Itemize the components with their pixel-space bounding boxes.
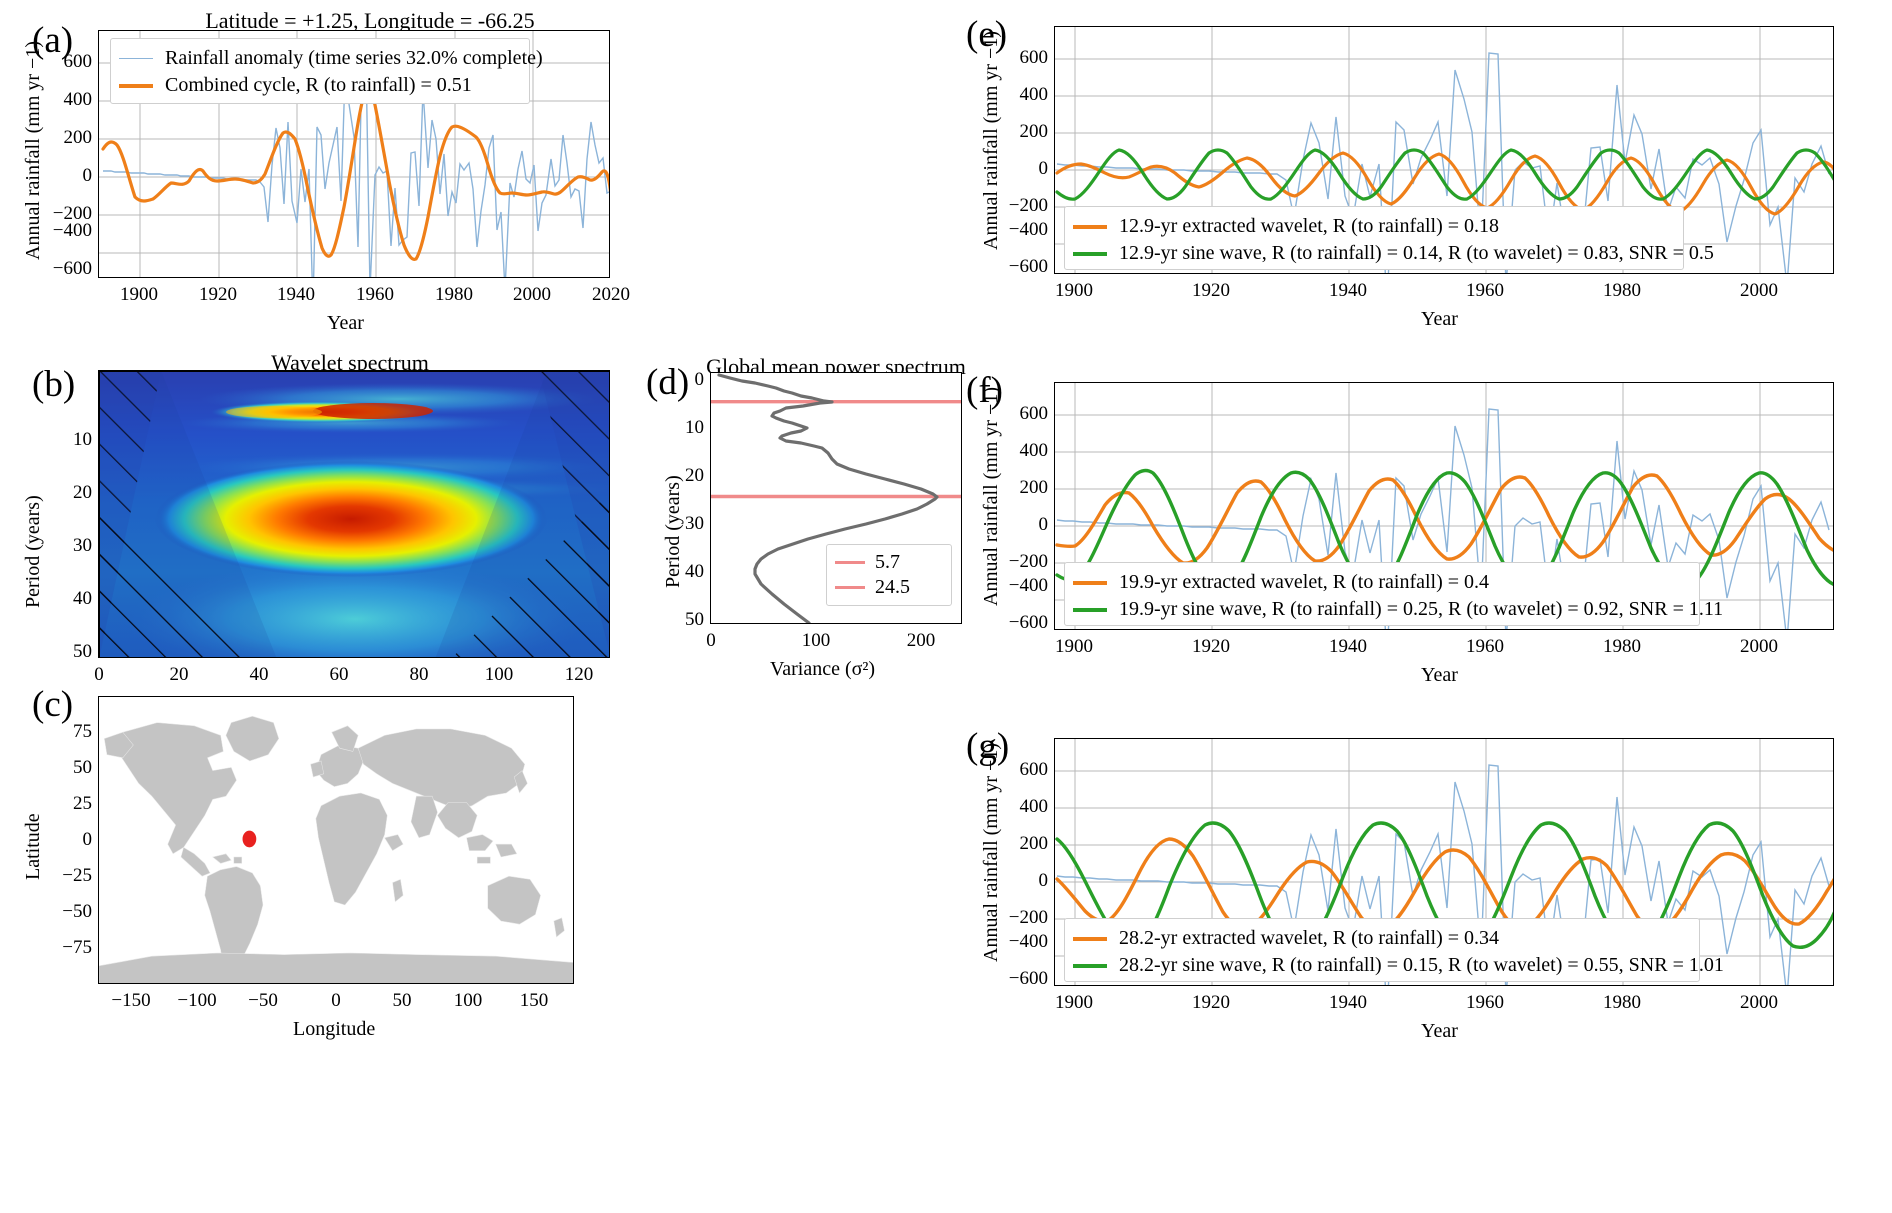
panel-g-xtick: 1960 <box>1466 992 1504 1014</box>
panel-b-xtick: 120 <box>565 664 594 686</box>
legend-label: 28.2-yr extracted wavelet, R (to rainfal… <box>1119 927 1499 950</box>
panel-a-ytick: 600 <box>46 51 92 73</box>
panel-f-xtick: 1920 <box>1192 636 1230 658</box>
panel-f-xtick: 1940 <box>1329 636 1367 658</box>
panel-e-xtick: 1940 <box>1329 280 1367 302</box>
panel-a-xtick: 2020 <box>592 284 630 306</box>
legend-swatch-extracted-wavelet <box>1073 937 1107 941</box>
panel-e-xtick: 1980 <box>1603 280 1641 302</box>
panel-f-xtick: 1980 <box>1603 636 1641 658</box>
legend-swatch-sine-wave <box>1073 252 1107 256</box>
legend-label: 19.9-yr sine wave, R (to rainfall) = 0.2… <box>1119 598 1723 621</box>
panel-f-xtick: 1960 <box>1466 636 1504 658</box>
panel-a-ytick: 200 <box>46 127 92 149</box>
panel-e-ytick: −400 <box>996 219 1048 241</box>
panel-e-xtick: 1960 <box>1466 280 1504 302</box>
panel-e-ytick: −200 <box>996 195 1048 217</box>
panel-a-ytick: 400 <box>46 89 92 111</box>
panel-e-xtick: 1920 <box>1192 280 1230 302</box>
panel-b-xtick: 80 <box>410 664 429 686</box>
panel-c-xtick: 0 <box>331 990 341 1012</box>
panel-b-xtick: 100 <box>485 664 514 686</box>
panel-d-ytick: 0 <box>682 369 704 391</box>
panel-f-ytick: 400 <box>1002 440 1048 462</box>
panel-g-legend: 28.2-yr extracted wavelet, R (to rainfal… <box>1064 918 1700 982</box>
panel-a-legend: Rainfall anomaly (time series 32.0% comp… <box>110 38 530 104</box>
panel-b-label: (b) <box>32 366 75 403</box>
panel-c-xtick: 50 <box>393 990 412 1012</box>
legend-swatch-sine-wave <box>1073 964 1107 968</box>
panel-c-ytick: −75 <box>30 937 92 959</box>
panel-c-xtick: −150 <box>111 990 150 1012</box>
panel-c-ylabel: Latitude <box>22 813 45 880</box>
legend-item[interactable]: 24.5 <box>835 575 943 600</box>
legend-item[interactable]: 19.9-yr sine wave, R (to rainfall) = 0.2… <box>1073 596 1689 623</box>
legend-swatch-extracted-wavelet <box>1073 225 1107 229</box>
legend-label: Rainfall anomaly (time series 32.0% comp… <box>165 47 543 70</box>
legend-label: Combined cycle, R (to rainfall) = 0.51 <box>165 74 472 97</box>
legend-item[interactable]: 12.9-yr extracted wavelet, R (to rainfal… <box>1073 213 1673 240</box>
legend-swatch-sine-wave <box>1073 608 1107 612</box>
panel-f-ytick: −400 <box>996 575 1048 597</box>
panel-a-ytick: 0 <box>46 165 92 187</box>
legend-item[interactable]: 12.9-yr sine wave, R (to rainfall) = 0.1… <box>1073 240 1673 267</box>
panel-e-ytick: −600 <box>996 256 1048 278</box>
panel-b-ytick: 30 <box>46 535 92 557</box>
panel-g-ytick: −200 <box>996 907 1048 929</box>
legend-label: 12.9-yr extracted wavelet, R (to rainfal… <box>1119 215 1499 238</box>
panel-d-ylabel: Period (years) <box>662 475 685 588</box>
panel-b-plot <box>98 370 610 658</box>
panel-a-xtick: 1920 <box>199 284 237 306</box>
figure-root: (a) Latitude = +1.25, Longitude = -66.25… <box>0 0 1892 1213</box>
panel-e-legend: 12.9-yr extracted wavelet, R (to rainfal… <box>1064 206 1684 270</box>
panel-b-ytick: 50 <box>46 641 92 663</box>
landmasses <box>99 716 574 984</box>
panel-b-ylabel: Period (years) <box>22 495 45 608</box>
panel-e-xtick: 1900 <box>1055 280 1093 302</box>
panel-d-xtick: 200 <box>907 630 936 652</box>
legend-label: 12.9-yr sine wave, R (to rainfall) = 0.1… <box>1119 242 1714 265</box>
panel-e-xtick: 2000 <box>1740 280 1778 302</box>
panel-a-xtick: 1960 <box>356 284 394 306</box>
legend-swatch-rainfall <box>119 58 153 59</box>
panel-f-ytick: 0 <box>1002 514 1048 536</box>
panel-g-ytick: 200 <box>1002 833 1048 855</box>
panel-a-xtick: 1980 <box>435 284 473 306</box>
panel-f-legend: 19.9-yr extracted wavelet, R (to rainfal… <box>1064 562 1700 626</box>
site-marker[interactable] <box>243 831 257 848</box>
panel-g-ytick: 400 <box>1002 796 1048 818</box>
panel-c-world-map-svg <box>99 697 574 984</box>
panel-c-xtick: 150 <box>520 990 549 1012</box>
legend-item[interactable]: Combined cycle, R (to rainfall) = 0.51 <box>119 72 519 99</box>
panel-g-xtick: 1920 <box>1192 992 1230 1014</box>
panel-g-xtick: 2000 <box>1740 992 1778 1014</box>
legend-item[interactable]: 28.2-yr extracted wavelet, R (to rainfal… <box>1073 925 1689 952</box>
panel-f-ytick: 600 <box>1002 403 1048 425</box>
panel-b-xtick: 40 <box>250 664 269 686</box>
panel-b-xtick: 0 <box>94 664 104 686</box>
panel-g-ytick: 600 <box>1002 759 1048 781</box>
panel-e-ytick: 600 <box>1002 47 1048 69</box>
legend-item[interactable]: 5.7 <box>835 550 943 575</box>
panel-c-label: (c) <box>32 686 73 723</box>
panel-e-ytick: 200 <box>1002 121 1048 143</box>
legend-label: 28.2-yr sine wave, R (to rainfall) = 0.1… <box>1119 954 1724 977</box>
panel-g-xlabel: Year <box>1421 1020 1458 1043</box>
panel-f-ytick: −200 <box>996 551 1048 573</box>
panel-a-xlabel: Year <box>327 312 364 335</box>
panel-c-xtick: −50 <box>248 990 278 1012</box>
panel-c-xlabel: Longitude <box>293 1018 375 1041</box>
panel-c-map <box>98 696 574 984</box>
panel-g-extracted-wavelet <box>1057 839 1834 930</box>
legend-label: 19.9-yr extracted wavelet, R (to rainfal… <box>1119 571 1489 594</box>
panel-c-xtick: −100 <box>177 990 216 1012</box>
panel-g-ytick: −400 <box>996 931 1048 953</box>
panel-c-xtick: 100 <box>454 990 483 1012</box>
legend-item[interactable]: 28.2-yr sine wave, R (to rainfall) = 0.1… <box>1073 952 1689 979</box>
panel-b-ytick: 10 <box>46 429 92 451</box>
panel-f-xtick: 2000 <box>1740 636 1778 658</box>
panel-d-ytick: 50 <box>672 609 704 631</box>
panel-d-ytick: 10 <box>672 417 704 439</box>
panel-a-xtick: 1940 <box>277 284 315 306</box>
panel-f-xlabel: Year <box>1421 664 1458 687</box>
legend-swatch-period-5-7 <box>835 561 865 564</box>
panel-a-xtick: 1900 <box>120 284 158 306</box>
panel-c-ytick: 50 <box>36 757 92 779</box>
panel-f-ytick: −600 <box>996 612 1048 634</box>
panel-a-ytick: −600 <box>40 258 92 280</box>
panel-g-xtick: 1900 <box>1055 992 1093 1014</box>
panel-e-ytick: 400 <box>1002 84 1048 106</box>
panel-d-xlabel: Variance (σ²) <box>770 658 875 681</box>
panel-b-xtick: 60 <box>330 664 349 686</box>
panel-g-xtick: 1940 <box>1329 992 1367 1014</box>
panel-c-ytick: 75 <box>36 721 92 743</box>
panel-d-xtick: 100 <box>802 630 831 652</box>
legend-label: 24.5 <box>875 576 910 599</box>
panel-f-xtick: 1900 <box>1055 636 1093 658</box>
legend-swatch-extracted-wavelet <box>1073 581 1107 585</box>
panel-b-ytick: 40 <box>46 588 92 610</box>
panel-a-xtick: 2000 <box>513 284 551 306</box>
legend-swatch-period-24-5 <box>835 586 865 589</box>
panel-b-ytick: 20 <box>46 482 92 504</box>
panel-d-legend: 5.7 24.5 <box>826 544 952 606</box>
panel-g-xtick: 1980 <box>1603 992 1641 1014</box>
legend-item[interactable]: 19.9-yr extracted wavelet, R (to rainfal… <box>1073 569 1689 596</box>
panel-e-ytick: 0 <box>1002 158 1048 180</box>
panel-f-ytick: 200 <box>1002 477 1048 499</box>
panel-g-ylabel: Annual rainfall (mm yr −1) <box>980 743 1003 962</box>
panel-d-xtick: 0 <box>706 630 716 652</box>
panel-e-ylabel: Annual rainfall (mm yr −1) <box>980 31 1003 250</box>
legend-label: 5.7 <box>875 551 900 574</box>
panel-f-ylabel: Annual rainfall (mm yr −1) <box>980 387 1003 606</box>
panel-b-wavelet-spectrum <box>99 371 610 658</box>
panel-e-xlabel: Year <box>1421 308 1458 331</box>
panel-a-ylabel: Annual rainfall (mm yr −1) <box>22 41 45 260</box>
legend-swatch-combined <box>119 84 153 88</box>
legend-item[interactable]: Rainfall anomaly (time series 32.0% comp… <box>119 45 519 72</box>
panel-a-ytick: −400 <box>40 220 92 242</box>
panel-c-ytick: 25 <box>36 793 92 815</box>
panel-g-ytick: −600 <box>996 968 1048 990</box>
panel-c-ytick: −50 <box>30 901 92 923</box>
panel-f-extracted-wavelet <box>1057 475 1834 563</box>
panel-b-xtick: 20 <box>170 664 189 686</box>
panel-g-ytick: 0 <box>1002 870 1048 892</box>
